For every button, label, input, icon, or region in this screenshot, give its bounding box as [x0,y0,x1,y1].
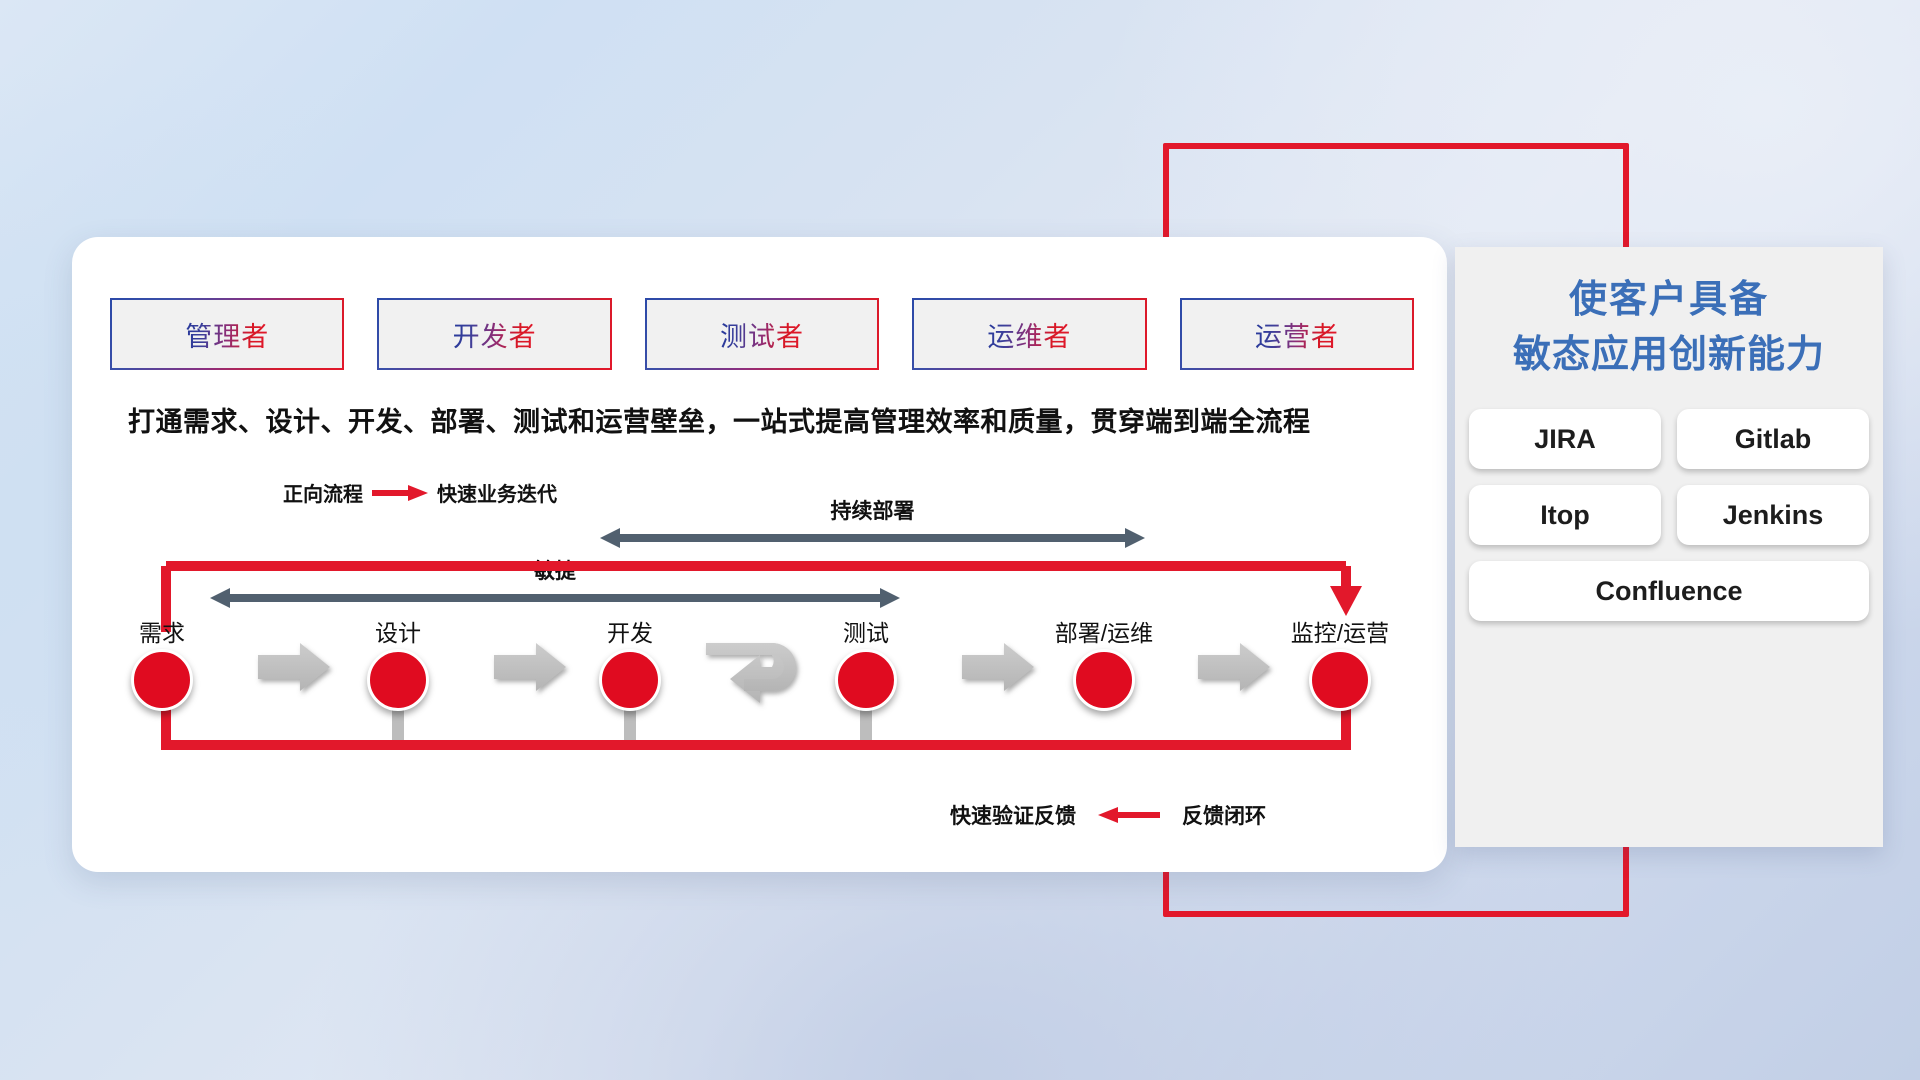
node-label: 需求 [82,622,242,645]
arrow-right-red-icon [372,485,428,501]
pipeline-node-requirement[interactable]: 需求 [82,622,242,711]
feedback-legend: 快速验证反馈 反馈闭环 [950,800,1266,830]
node-dot [835,649,897,711]
node-label: 监控/运营 [1260,622,1420,645]
node-label: 部署/运维 [1024,622,1184,645]
agile-band: 敏捷 [210,560,900,611]
role-chip-ops[interactable]: 运维者 [914,300,1144,368]
pipeline-node-deploy-ops[interactable]: 部署/运维 [1024,622,1184,711]
role-chip-tester[interactable]: 测试者 [647,300,877,368]
forward-flow-label: 正向流程 [283,478,363,507]
role-label: 开发者 [453,315,537,354]
node-label: 测试 [786,622,946,645]
node-label: 开发 [550,622,710,645]
feedback-loop-label: 反馈闭环 [1182,800,1266,830]
pipeline-node-monitor-operation[interactable]: 监控/运营 [1260,622,1420,711]
slide-canvas: 管理者 开发者 测试者 运维者 运营者 打通需求、设计、开发、部署、测试和运营壁… [0,0,1920,1080]
tool-chip-itop[interactable]: Itop [1469,485,1661,545]
value-proposition-panel: 使客户具备 敏态应用创新能力 JIRA Gitlab Itop Jenkins … [1455,247,1883,847]
role-chip-developer[interactable]: 开发者 [379,300,609,368]
continuous-deployment-label: 持续部署 [600,500,1145,523]
node-dot [131,649,193,711]
role-label: 运维者 [987,315,1071,354]
forward-flow-legend: 正向流程 快速业务迭代 [283,478,557,507]
tool-chip-jira[interactable]: JIRA [1469,409,1661,469]
arrow-left-red-icon [1098,807,1160,823]
tool-chip-jenkins[interactable]: Jenkins [1677,485,1869,545]
fast-business-iteration-label: 快速业务迭代 [437,478,557,507]
role-label: 管理者 [185,315,269,354]
continuous-deployment-band: 持续部署 [600,500,1145,551]
tool-chip-gitlab[interactable]: Gitlab [1677,409,1869,469]
fast-verification-feedback-label: 快速验证反馈 [950,800,1076,830]
role-chip-operation[interactable]: 运营者 [1182,300,1412,368]
node-dot [1309,649,1371,711]
node-label: 设计 [318,622,478,645]
role-label: 运营者 [1255,315,1339,354]
tool-chip-confluence[interactable]: Confluence [1469,561,1869,621]
pipeline-node-develop[interactable]: 开发 [550,622,710,711]
role-label: 测试者 [720,315,804,354]
node-dot [1073,649,1135,711]
pipeline-node-design[interactable]: 设计 [318,622,478,711]
pipeline-node-test[interactable]: 测试 [786,622,946,711]
double-arrow-slate-icon [210,585,900,611]
panel-title-line2: 敏态应用创新能力 [1455,328,1883,383]
node-dot [367,649,429,711]
double-arrow-slate-icon [600,525,1145,551]
headline-text: 打通需求、设计、开发、部署、测试和运营壁垒，一站式提高管理效率和质量，贯穿端到端… [128,400,1428,439]
agile-label: 敏捷 [210,560,900,583]
role-chip-row: 管理者 开发者 测试者 运维者 运营者 [112,300,1412,368]
tool-chip-grid: JIRA Gitlab Itop Jenkins Confluence [1469,409,1869,621]
panel-title-line1: 使客户具备 [1455,273,1883,328]
node-dot [599,649,661,711]
panel-title: 使客户具备 敏态应用创新能力 [1455,247,1883,383]
role-chip-manager[interactable]: 管理者 [112,300,342,368]
